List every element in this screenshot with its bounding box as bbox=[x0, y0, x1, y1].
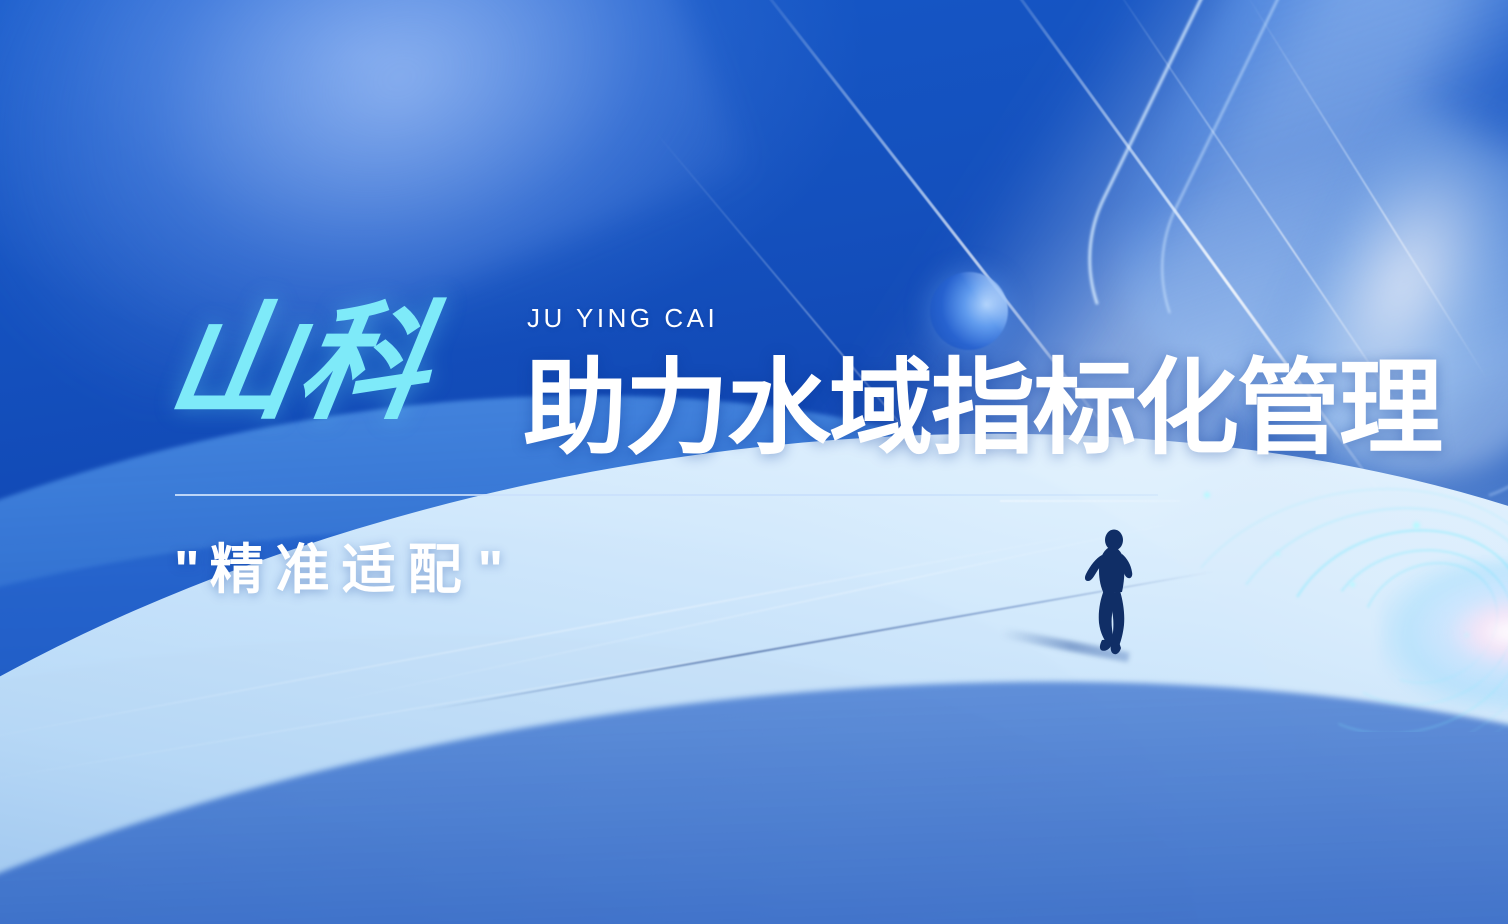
headline-text: 助力水域指标化管理 bbox=[523, 357, 1441, 461]
promotional-banner: 山科 JU YING CAI 助力水域指标化管理 "精准适配" bbox=[0, 0, 1508, 924]
brand-logo-text: 山科 bbox=[160, 300, 440, 428]
brand-pinyin-text: JU YING CAI bbox=[527, 305, 718, 331]
divider-line bbox=[175, 494, 1158, 496]
tagline-text: 精准适配 bbox=[210, 540, 474, 600]
tagline-quote-close: " bbox=[474, 540, 514, 600]
tagline-quote-open: " bbox=[170, 540, 210, 600]
tagline: "精准适配" bbox=[170, 538, 513, 603]
banner-content: 山科 JU YING CAI 助力水域指标化管理 "精准适配" bbox=[0, 0, 1508, 924]
